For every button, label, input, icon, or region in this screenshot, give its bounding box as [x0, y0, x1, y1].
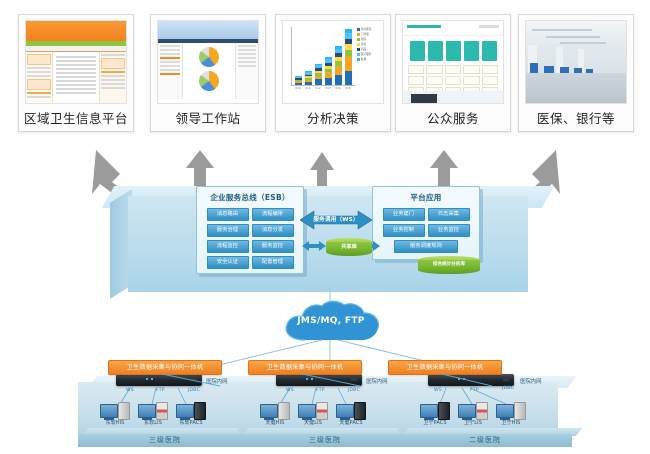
chart-bar	[305, 71, 312, 85]
portal-screenshot-thumbnail	[25, 20, 127, 104]
esb-chip-4[interactable]: 流程监控	[207, 240, 249, 253]
shared-db-label: 共享库	[326, 243, 372, 250]
stacked-bar-chart-thumbnail: 010011012013014015 综合医院门诊量住院床位药品医疗服务其他	[282, 20, 384, 104]
protocol-ftp-label: FTP	[156, 388, 165, 393]
chip-service-dispatch-rule[interactable]: 服务调度规则	[394, 240, 458, 253]
platform-chip-1[interactable]: 日志采集	[428, 208, 470, 221]
esb-chip-5[interactable]: 服务监控	[252, 240, 294, 253]
service-call-label: 服务调用（WS）	[303, 215, 369, 223]
protocol-ws-label: WS	[286, 388, 294, 393]
app-card-regional-platform[interactable]: 区域卫生信息平台	[18, 14, 134, 132]
chart-legend-item: 其他	[357, 58, 383, 61]
chart-x-tick: 010	[295, 86, 302, 90]
chart-x-tick: 013	[325, 86, 332, 90]
legend-label: 床位	[361, 43, 366, 46]
esb-chip-3[interactable]: 消息分发	[252, 224, 294, 237]
chart-bar-segment	[335, 66, 342, 75]
esb-panel-title: 企业服务总线（ESB）	[197, 187, 303, 203]
hospital-tier-label: 二级医院	[398, 435, 572, 445]
protocol-ws-label: WS	[434, 388, 442, 393]
node-label: 天健HIS	[258, 419, 292, 426]
chart-bar-segment	[345, 71, 352, 85]
platform-chip-2[interactable]: 业务控制	[383, 224, 425, 237]
node-item[interactable]: 卫宁LIS	[456, 402, 490, 426]
platform-chip-list: 业务建门日志采集业务控制业务监控	[373, 203, 479, 237]
chart-bar-segment	[315, 79, 322, 85]
chart-bar	[315, 64, 322, 85]
app-card-analysis-decision[interactable]: 010011012013014015 综合医院门诊量住院床位药品医疗服务其他 分…	[275, 14, 391, 132]
node-item[interactable]: 东软LIS	[136, 402, 170, 426]
legend-label: 医疗服务	[361, 53, 371, 56]
legend-label: 住院	[361, 38, 366, 41]
node-label: 卫宁HIS	[494, 419, 528, 426]
node-label: 卫宁LIS	[456, 419, 490, 426]
legend-swatch	[357, 58, 360, 61]
chart-bar-segment	[305, 82, 312, 85]
esb-chip-0[interactable]: 消息路由	[207, 208, 249, 221]
app-label: 区域卫生信息平台	[24, 104, 128, 131]
legend-label: 综合医院	[361, 28, 371, 31]
node-item[interactable]: 天健HIS	[258, 402, 292, 426]
chart-bar-segment	[325, 78, 332, 85]
analysis-database-cylinder[interactable]: 综合统计分析库	[418, 256, 480, 274]
intranet-label: 医院内网	[520, 377, 542, 385]
node-item[interactable]: 东软PACS	[174, 402, 208, 426]
esb-panel[interactable]: 企业服务总线（ESB） 消息路由流程编排服务治理消息分发流程监控服务监控安全认证…	[196, 186, 304, 274]
node-item[interactable]: 卫宁PACS	[418, 402, 452, 426]
collector-callout-line-1	[160, 372, 240, 388]
chart-bar	[345, 29, 352, 85]
chart-legend-item: 药品	[357, 48, 383, 51]
chart-x-tick: 012	[315, 86, 322, 90]
chart-x-tick-labels: 010011012013014015	[291, 86, 355, 90]
node-item[interactable]: 天健PACS	[334, 402, 368, 426]
app-label: 领导工作站	[175, 104, 240, 131]
protocol-jdbc-label: JDBC	[348, 388, 360, 393]
hospital-tier-label: 三级医院	[78, 435, 252, 445]
app-label: 公众服务	[427, 104, 479, 131]
esb-chip-list: 消息路由流程编排服务治理消息分发流程监控服务监控安全认证配置管理	[197, 203, 303, 269]
chart-bar-segment	[335, 75, 342, 85]
app-label: 医保、银行等	[537, 104, 615, 131]
legend-swatch	[357, 53, 360, 56]
chart-bar-segment	[295, 83, 302, 85]
app-card-leader-workstation[interactable]: 领导工作站	[150, 14, 266, 132]
cloud-label: JMS/MQ, FTP	[279, 316, 383, 326]
chart-bar-segment	[345, 56, 352, 71]
protocol-jdbc-label: JDBC	[188, 388, 200, 393]
chart-legend: 综合医院门诊量住院床位药品医疗服务其他	[357, 21, 383, 103]
app-card-insurance-bank[interactable]: 医保、银行等	[518, 14, 634, 132]
esb-chip-7[interactable]: 配置管理	[252, 256, 294, 269]
node-label: 东软LIS	[136, 419, 170, 426]
collector-callout-line-3	[440, 372, 520, 388]
legend-swatch	[357, 38, 360, 41]
node-label: 东软PACS	[174, 419, 208, 426]
chart-bar	[295, 76, 302, 85]
chart-bar	[325, 57, 332, 85]
chart-legend-item: 床位	[357, 43, 383, 46]
legend-label: 其他	[361, 58, 366, 61]
node-label: 卫宁PACS	[418, 419, 452, 426]
protocol-ftp-label: FTP	[316, 388, 325, 393]
kiosk-ui-screenshot-thumbnail	[402, 20, 504, 104]
legend-swatch	[357, 33, 360, 36]
platform-app-panel[interactable]: 平台应用 业务建门日志采集业务控制业务监控 服务调度规则	[372, 186, 480, 260]
architecture-diagram: 区域卫生信息平台 领导工作站 010011012013014015 综合医院门诊…	[0, 0, 650, 454]
chart-legend-item: 医疗服务	[357, 53, 383, 56]
legend-swatch	[357, 28, 360, 31]
legend-swatch	[357, 43, 360, 46]
esb-to-shared-db-arrow	[302, 240, 326, 252]
collector-callout-line-2	[300, 372, 380, 388]
chart-x-tick: 011	[305, 86, 312, 90]
app-label: 分析决策	[307, 104, 359, 131]
node-label: 东软HIS	[98, 419, 132, 426]
platform-chip-0[interactable]: 业务建门	[383, 208, 425, 221]
protocol-ftp-label: FTP	[470, 388, 479, 393]
node-label: 天健LIS	[296, 419, 330, 426]
esb-chip-6[interactable]: 安全认证	[207, 256, 249, 269]
chart-plot	[291, 27, 355, 86]
protocol-ws-label: WS	[126, 388, 134, 393]
service-hall-photo-thumbnail	[525, 20, 627, 104]
esb-chip-1[interactable]: 流程编排	[252, 208, 294, 221]
node-item[interactable]: 东软HIS	[98, 402, 132, 426]
dashboard-screenshot-thumbnail	[157, 20, 259, 104]
chart-x-tick: 014	[335, 86, 342, 90]
chart-bar	[335, 46, 342, 85]
chart-legend-item: 门诊量	[357, 33, 383, 36]
shared-database-cylinder[interactable]: 共享库	[326, 238, 372, 256]
platform-panel-title: 平台应用	[373, 187, 479, 203]
app-card-public-service[interactable]: 公众服务	[395, 14, 511, 132]
chart-legend-item: 住院	[357, 38, 383, 41]
node-label: 天健PACS	[334, 419, 368, 426]
chart-legend-item: 综合医院	[357, 28, 383, 31]
hospital-tier-label: 三级医院	[238, 435, 412, 445]
esb-chip-2[interactable]: 服务治理	[207, 224, 249, 237]
platform-chip-3[interactable]: 业务监控	[428, 224, 470, 237]
analysis-db-label: 综合统计分析库	[418, 261, 480, 267]
legend-label: 门诊量	[361, 33, 369, 36]
node-item[interactable]: 卫宁HIS	[494, 402, 528, 426]
legend-label: 药品	[361, 48, 366, 51]
chart-x-tick: 015	[345, 86, 352, 90]
legend-swatch	[357, 48, 360, 51]
node-item[interactable]: 天健LIS	[296, 402, 330, 426]
